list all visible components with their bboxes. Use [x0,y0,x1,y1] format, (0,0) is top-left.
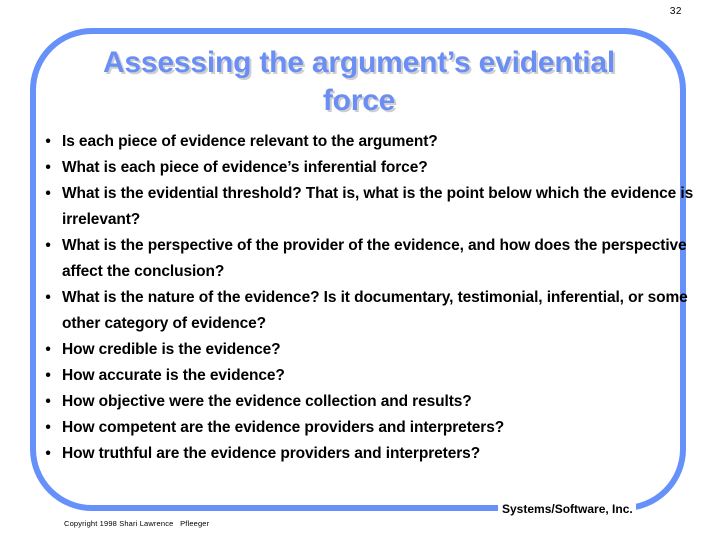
page-number: 32 [670,6,682,18]
bullet-dot-icon: • [42,285,54,311]
list-item: •How accurate is the evidence? [40,363,712,389]
list-item-text: What is the nature of the evidence? Is i… [62,285,712,337]
list-item: •How competent are the evidence provider… [40,415,712,441]
footer-copyright-label: Copyright 1998 Shari Lawrence Pfleeger [64,518,209,529]
bullet-dot-icon: • [42,233,54,259]
bullet-dot-icon: • [42,363,54,389]
list-item: •How objective were the evidence collect… [40,389,712,415]
list-item-text: How truthful are the evidence providers … [62,441,712,467]
bullet-dot-icon: • [42,441,54,467]
list-item-text: How objective were the evidence collecti… [62,389,712,415]
list-item-text: How competent are the evidence providers… [62,415,712,441]
slide-canvas: 32 Assessing the argument’s evidential f… [0,0,719,539]
bullet-dot-icon: • [42,155,54,181]
bullet-dot-icon: • [42,181,54,207]
list-item: •Is each piece of evidence relevant to t… [40,129,712,155]
list-item: •What is the nature of the evidence? Is … [40,285,712,337]
list-item-text: Is each piece of evidence relevant to th… [62,129,712,155]
bullet-dot-icon: • [42,129,54,155]
list-item: •How truthful are the evidence providers… [40,441,712,467]
list-item: •What is the perspective of the provider… [40,233,712,285]
bullet-dot-icon: • [42,337,54,363]
list-item-text: What is the evidential threshold? That i… [62,181,712,233]
footer-brand-label: Systems/Software, Inc. [498,502,636,517]
list-item-text: What is each piece of evidence’s inferen… [62,155,712,181]
list-item-text: What is the perspective of the provider … [62,233,712,285]
list-item-text: How accurate is the evidence? [62,363,712,389]
list-item: •What is the evidential threshold? That … [40,181,712,233]
bullet-dot-icon: • [42,415,54,441]
page-title: Assessing the argument’s evidential forc… [34,44,684,120]
list-item: •How credible is the evidence? [40,337,712,363]
bullet-list: •Is each piece of evidence relevant to t… [40,129,712,467]
bullet-dot-icon: • [42,389,54,415]
list-item: •What is each piece of evidence’s infere… [40,155,712,181]
list-item-text: How credible is the evidence? [62,337,712,363]
